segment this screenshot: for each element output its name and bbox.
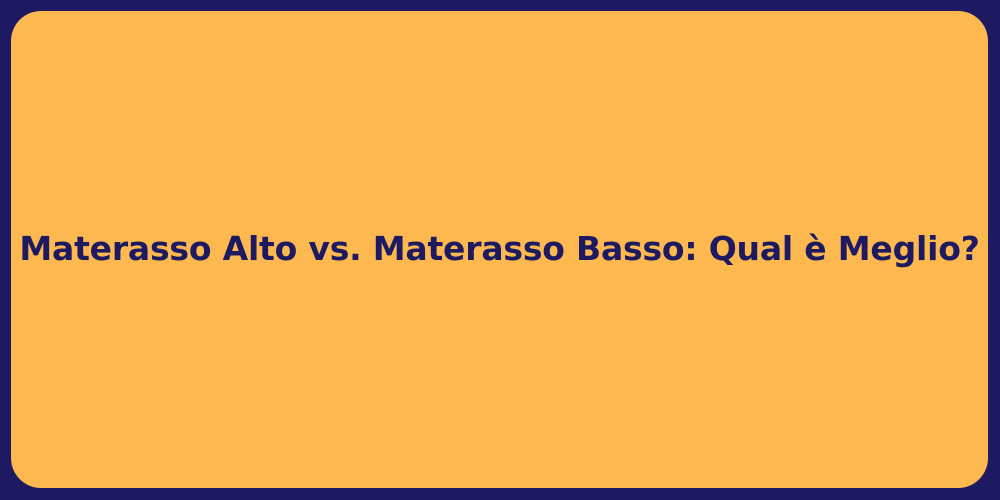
- page-title: Materasso Alto vs. Materasso Basso: Qual…: [11, 229, 988, 269]
- banner-root: Materasso Alto vs. Materasso Basso: Qual…: [0, 0, 1000, 500]
- banner-card: Materasso Alto vs. Materasso Basso: Qual…: [11, 11, 988, 488]
